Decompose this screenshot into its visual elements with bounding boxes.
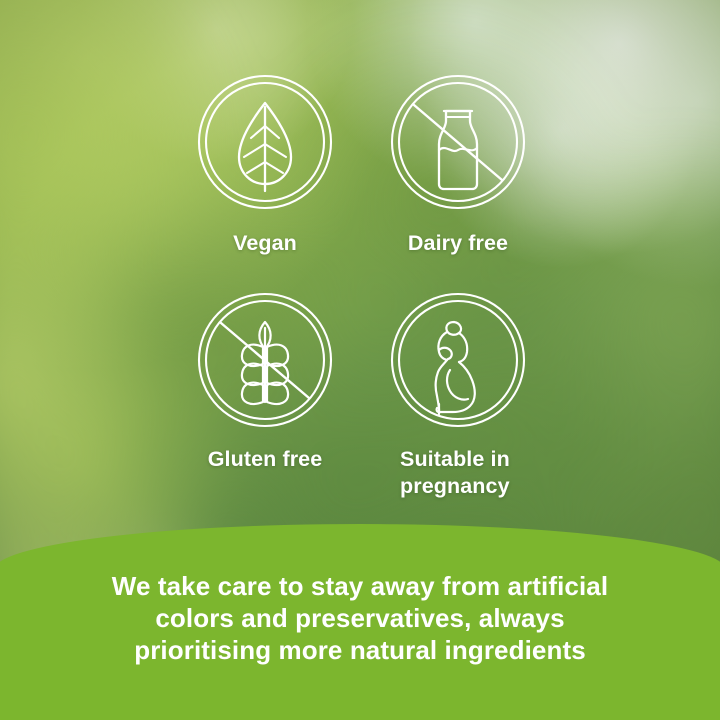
gluten-free-icon-ring (197, 292, 333, 433)
no-wheat-icon (197, 292, 333, 428)
badge-label-vegan: Vegan (175, 230, 355, 257)
bottom-green-banner: We take care to stay away from artificia… (0, 524, 720, 720)
claims-badge-grid: Vegan Dairy free (0, 0, 720, 540)
pregnant-woman-icon (390, 292, 526, 428)
product-claims-poster: Vegan Dairy free (0, 0, 720, 720)
banner-message: We take care to stay away from artificia… (0, 570, 720, 666)
badge-label-dairy-free: Dairy free (368, 230, 548, 257)
vegan-icon-ring (197, 74, 333, 215)
badge-label-gluten-free: Gluten free (175, 446, 355, 473)
dairy-free-icon-ring (390, 74, 526, 215)
pregnancy-icon-ring (390, 292, 526, 433)
badge-label-pregnancy: Suitable in pregnancy (400, 446, 590, 500)
no-milk-bottle-icon (390, 74, 526, 210)
leaf-icon (197, 74, 333, 210)
